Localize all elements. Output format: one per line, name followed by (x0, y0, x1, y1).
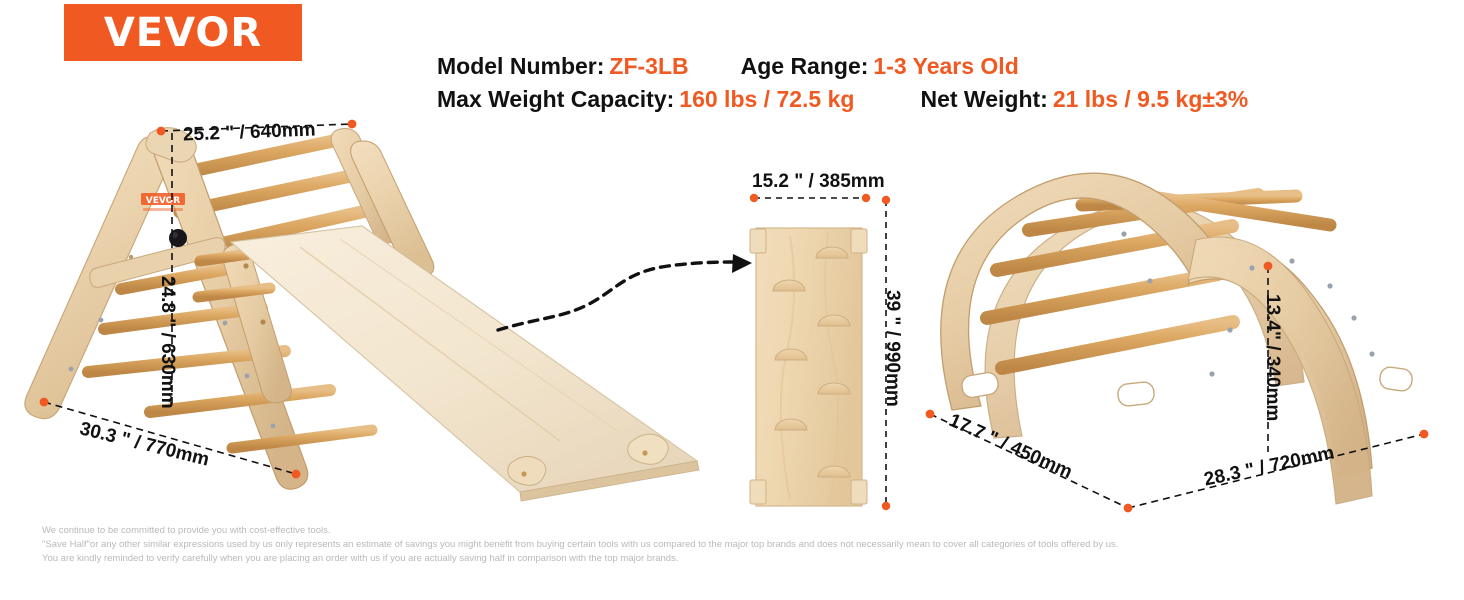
illustration-climbing-board (750, 228, 867, 506)
footer-line-3: You are kindly reminded to verify carefu… (42, 552, 1432, 566)
svg-text:VEVOR: VEVOR (146, 196, 181, 206)
footer-line-1: We continue to be committed to provide y… (42, 524, 1432, 538)
footer-line-2: "Save Half"or any other similar expressi… (42, 538, 1432, 552)
product-illustrations: VEVOR (0, 0, 1464, 600)
dimension-label-board-width: 15.2 " / 385mm (752, 171, 885, 193)
pointer-arrow (498, 254, 752, 330)
footer-disclaimer: We continue to be committed to provide y… (42, 524, 1432, 566)
triangle-brand-stamp: VEVOR (141, 193, 185, 211)
product-spec-sheet: VEVOR Model Number: ZF-3LB Age Range: 1-… (0, 0, 1464, 600)
dimension-label-triangle-height: 24.8 " / 630mm (156, 276, 178, 409)
dimension-label-board-length: 39 " / 990mm (881, 290, 903, 407)
dimension-label-arch-height: 13.4" / 340mm (1261, 294, 1283, 421)
